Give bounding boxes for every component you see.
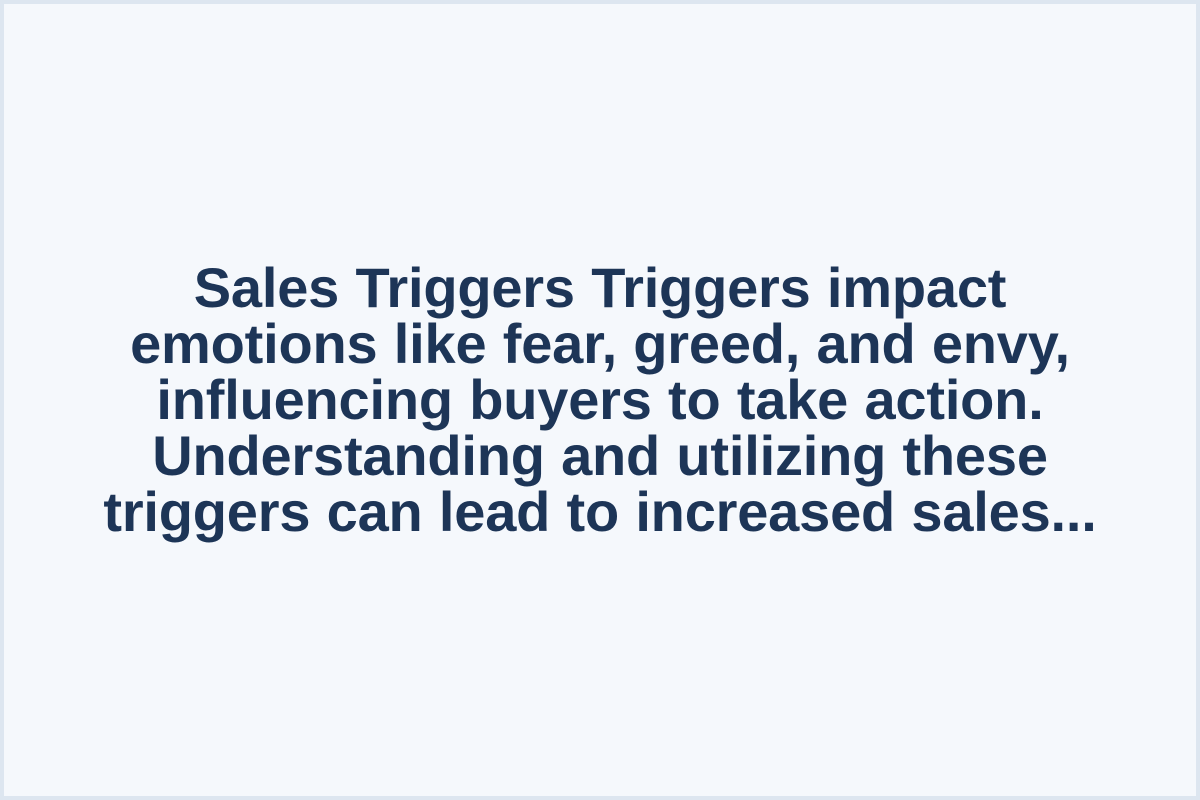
body-text-line-1: Sales Triggers Triggers impact xyxy=(68,260,1132,316)
body-text-line-3: influencing buyers to take action. xyxy=(68,372,1132,428)
body-text-line-2: emotions like fear, greed, and envy, xyxy=(68,316,1132,372)
card-body-text: Sales Triggers Triggers impact emotions … xyxy=(68,260,1132,540)
body-text-line-5: triggers can lead to increased sales... xyxy=(68,484,1132,540)
body-text-line-4: Understanding and utilizing these xyxy=(68,428,1132,484)
text-quote-card: Sales Triggers Triggers impact emotions … xyxy=(0,0,1200,800)
